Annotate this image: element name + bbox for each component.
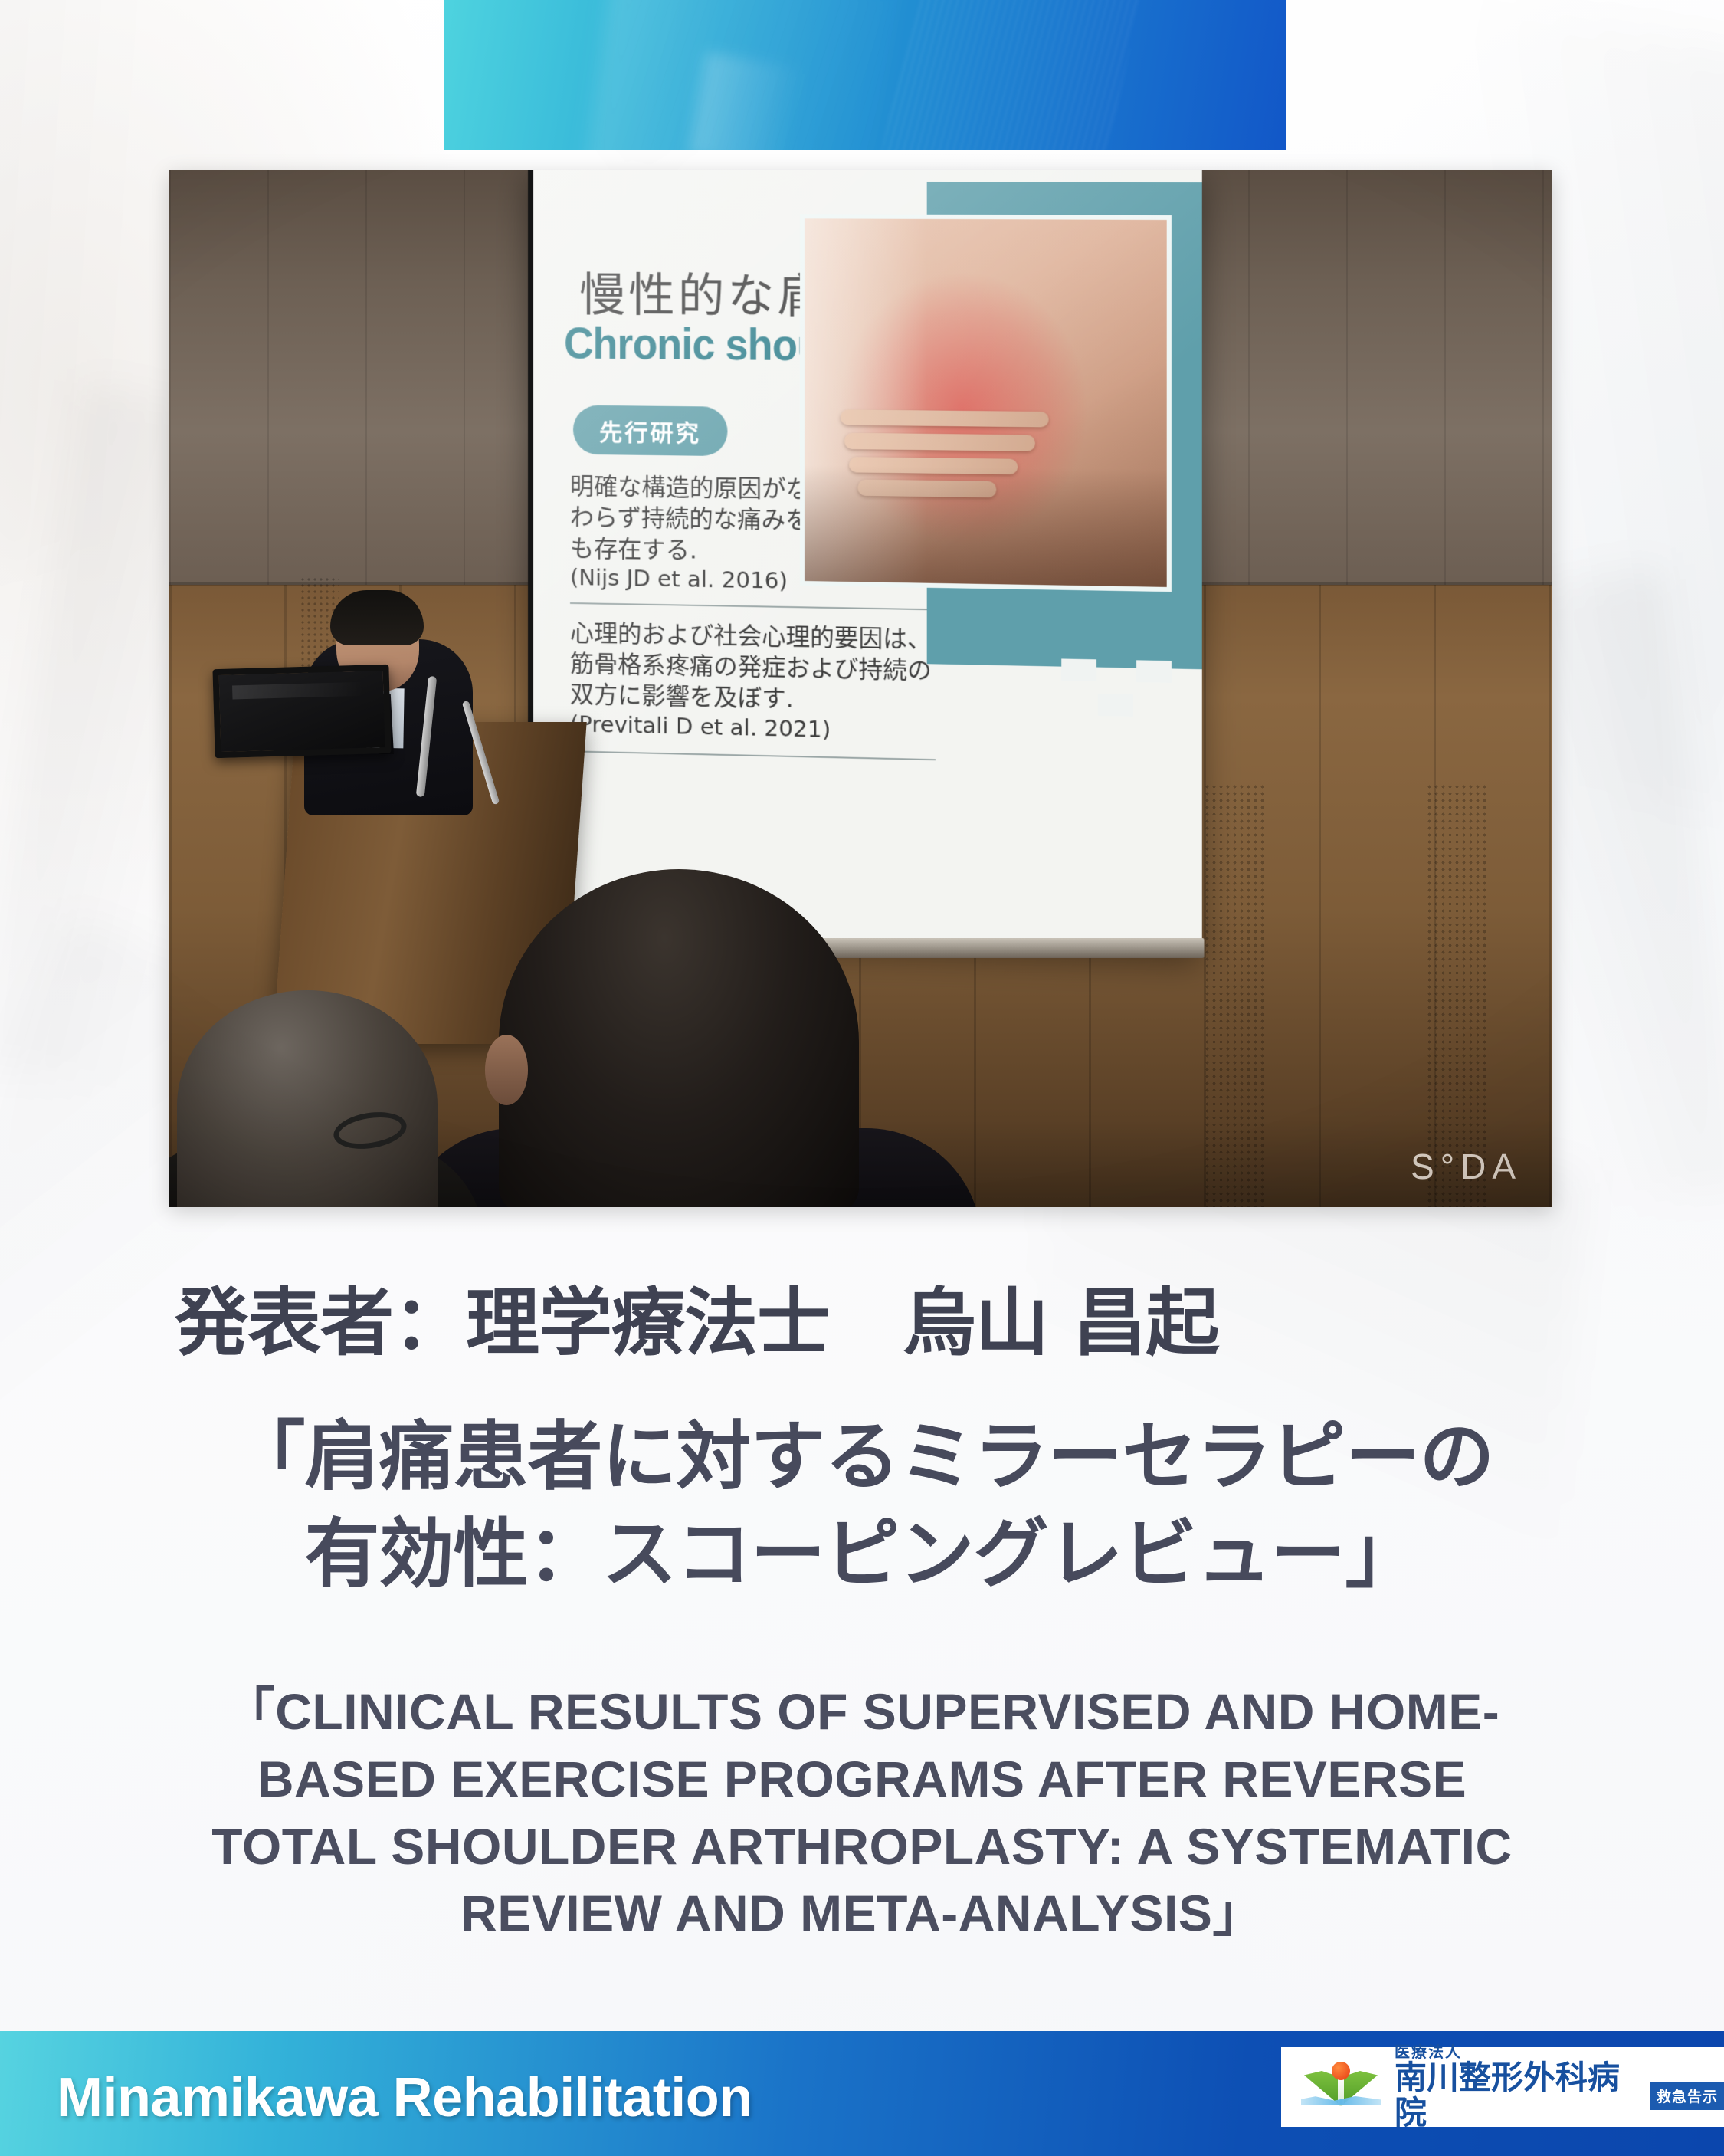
banner-highlight xyxy=(688,52,806,150)
finger xyxy=(844,433,1035,451)
hospital-text-block: 医療法人 南川整形外科病院 救急告示 xyxy=(1395,2043,1724,2131)
title-en-line-3: TOTAL SHOULDER ARTHROPLASTY: A SYSTEMATI… xyxy=(153,1813,1571,1881)
slide-divider xyxy=(570,602,936,610)
title-en-line-1: 「CLINICAL RESULTS OF SUPERVISED AND HOME… xyxy=(153,1679,1571,1746)
shoulder-pain-image xyxy=(800,214,1172,592)
title-ja-line-2: 有効性：スコーピングレビュー」 xyxy=(0,1506,1724,1603)
slide-section-badge: 先行研究 xyxy=(573,405,727,457)
sun-dot-icon xyxy=(1332,2062,1350,2080)
decorative-square xyxy=(1136,660,1172,683)
hospital-logo-card: 医療法人 南川整形外科病院 救急告示 xyxy=(1281,2047,1724,2127)
decorative-square xyxy=(1061,658,1096,681)
hospital-name-row: 南川整形外科病院 救急告示 xyxy=(1395,2060,1724,2131)
slide-paragraph-2: 心理的および社会心理的要因は、筋骨格系疼痛の発症および持続の双方に影響を及ぼす. xyxy=(570,618,936,718)
presenter-name-line: 発表者：理学療法士 烏山 昌起 xyxy=(0,1263,1724,1370)
audience-member-head xyxy=(177,990,438,1207)
projection-screen: 慢性的な肩痛 Chronic shoulder pain 先行研究 明確な構造的… xyxy=(528,170,1202,953)
projected-slide: 慢性的な肩痛 Chronic shoulder pain 先行研究 明確な構造的… xyxy=(528,170,1202,953)
decorative-square xyxy=(1098,694,1133,717)
presentation-title-japanese: 「肩痛患者に対するミラーセラピーの 有効性：スコーピングレビュー」 xyxy=(0,1409,1724,1604)
podium-monitor xyxy=(212,665,391,758)
emergency-notice-badge: 救急告示 xyxy=(1650,2082,1724,2110)
title-en-line-4: REVIEW AND META-ANALYSIS」 xyxy=(153,1880,1571,1948)
hospital-corporation-label: 医療法人 xyxy=(1395,2043,1724,2060)
presentation-title-english: 「CLINICAL RESULTS OF SUPERVISED AND HOME… xyxy=(0,1679,1724,1948)
leaf-logo-icon xyxy=(1301,2062,1381,2112)
slide-accent-panel xyxy=(927,182,1202,669)
wall-perforated-panel xyxy=(1204,783,1264,1207)
title-ja-line-1: 「肩痛患者に対するミラーセラピーの xyxy=(0,1409,1724,1506)
presenter-hair xyxy=(330,590,424,645)
soda-watermark-logo: S°DA xyxy=(1411,1146,1522,1187)
finger xyxy=(841,409,1048,428)
footer-bar: Minamikawa Rehabilitation 医療法人 南川整形外科病院 … xyxy=(0,2031,1724,2156)
footer-brand-text: Minamikawa Rehabilitation xyxy=(57,2066,752,2129)
hospital-name: 南川整形外科病院 xyxy=(1395,2060,1643,2131)
audience-member-head xyxy=(499,869,859,1207)
title-en-line-2: BASED EXERCISE PROGRAMS AFTER REVERSE xyxy=(153,1746,1571,1813)
wall-perforated-panel xyxy=(1426,783,1486,1207)
banner-texture xyxy=(870,0,1147,150)
audience-member-ear xyxy=(485,1035,528,1105)
presentation-photo: 慢性的な肩痛 Chronic shoulder pain 先行研究 明確な構造的… xyxy=(169,170,1552,1207)
image-shading xyxy=(805,465,1167,587)
top-gradient-banner xyxy=(444,0,1286,150)
slide-divider xyxy=(570,750,936,760)
